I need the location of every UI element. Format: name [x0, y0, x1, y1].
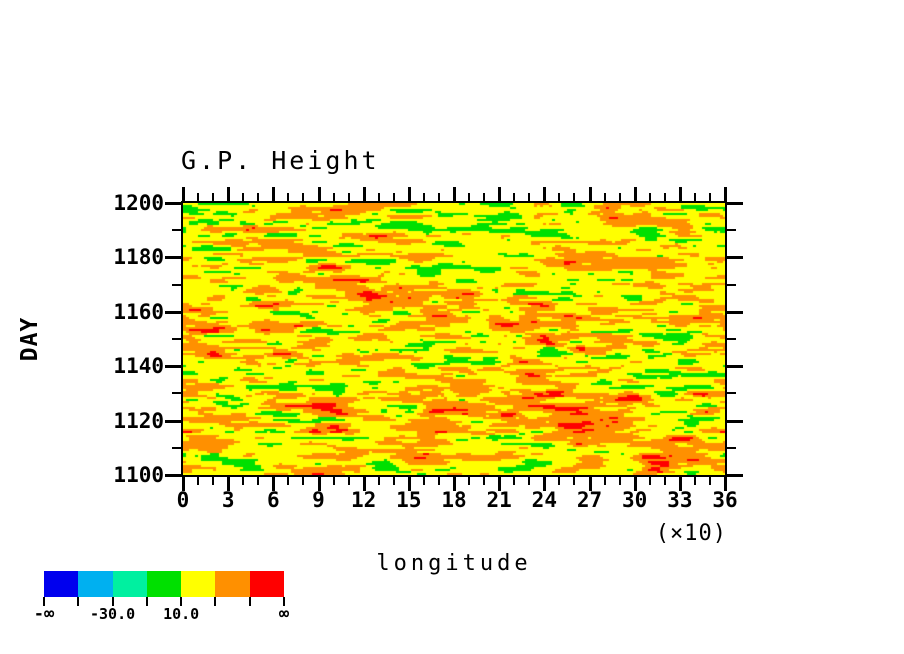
- x-minor-tick: [573, 193, 575, 201]
- x-minor-tick: [468, 477, 470, 485]
- y-major-tick: [727, 420, 743, 423]
- y-tick-label: 1200: [72, 191, 164, 215]
- y-tick-label: 1100: [72, 463, 164, 487]
- x-major-tick: [408, 187, 411, 201]
- x-minor-tick: [604, 477, 606, 485]
- y-major-tick: [727, 311, 743, 314]
- x-minor-tick: [197, 193, 199, 201]
- x-minor-tick: [649, 477, 651, 485]
- x-minor-tick: [393, 193, 395, 201]
- x-minor-tick: [333, 193, 335, 201]
- y-major-tick: [165, 202, 181, 205]
- x-minor-tick: [423, 193, 425, 201]
- x-minor-tick: [212, 193, 214, 201]
- x-major-tick: [498, 187, 501, 201]
- x-minor-tick: [242, 477, 244, 485]
- x-minor-tick: [664, 477, 666, 485]
- x-minor-tick: [378, 477, 380, 485]
- y-minor-tick: [172, 392, 181, 394]
- x-minor-tick: [619, 193, 621, 201]
- colorbar: [44, 571, 284, 597]
- x-minor-tick: [333, 477, 335, 485]
- x-minor-tick: [483, 193, 485, 201]
- x-tick-label: 27: [577, 488, 602, 512]
- y-minor-tick: [172, 338, 181, 340]
- plot-area: [181, 201, 727, 477]
- colorbar-segment: [181, 571, 215, 597]
- x-tick-label: 3: [222, 488, 235, 512]
- x-minor-tick: [348, 193, 350, 201]
- x-major-tick: [318, 187, 321, 201]
- x-major-tick: [363, 187, 366, 201]
- y-major-tick: [165, 365, 181, 368]
- y-major-tick: [165, 256, 181, 259]
- x-minor-tick: [649, 193, 651, 201]
- colorbar-segment: [78, 571, 112, 597]
- x-minor-tick: [438, 477, 440, 485]
- x-major-tick: [679, 187, 682, 201]
- x-major-tick: [634, 187, 637, 201]
- colorbar-segment: [215, 571, 249, 597]
- x-tick-label: 12: [351, 488, 376, 512]
- colorbar-tick: [77, 597, 79, 606]
- y-minor-tick: [727, 229, 736, 231]
- x-minor-tick: [378, 193, 380, 201]
- x-minor-tick: [287, 477, 289, 485]
- y-minor-tick: [172, 447, 181, 449]
- x-minor-tick: [573, 477, 575, 485]
- x-tick-label: 33: [667, 488, 692, 512]
- y-minor-tick: [727, 338, 736, 340]
- x-minor-tick: [528, 477, 530, 485]
- x-minor-tick: [287, 193, 289, 201]
- x-minor-tick: [528, 193, 530, 201]
- colorbar-label: -∞: [34, 604, 54, 624]
- x-minor-tick: [619, 477, 621, 485]
- colorbar-label: -30.0: [90, 605, 135, 623]
- y-major-tick: [165, 311, 181, 314]
- x-major-tick: [589, 187, 592, 201]
- colorbar-tick: [249, 597, 251, 606]
- x-minor-tick: [513, 477, 515, 485]
- colorbar-tick: [146, 597, 148, 606]
- x-minor-tick: [558, 477, 560, 485]
- y-major-tick: [727, 202, 743, 205]
- y-major-tick: [165, 420, 181, 423]
- x-minor-tick: [212, 477, 214, 485]
- x-minor-tick: [694, 193, 696, 201]
- x-minor-tick: [257, 193, 259, 201]
- colorbar-label: ∞: [279, 604, 289, 624]
- x-minor-tick: [302, 477, 304, 485]
- y-axis-title: DAY: [17, 317, 43, 362]
- x-tick-label: 18: [441, 488, 466, 512]
- colorbar-segment: [44, 571, 78, 597]
- y-major-tick: [727, 365, 743, 368]
- x-tick-label: 0: [177, 488, 190, 512]
- x-minor-tick: [664, 193, 666, 201]
- y-minor-tick: [727, 284, 736, 286]
- colorbar-label: 10.0: [163, 605, 199, 623]
- x-major-tick: [453, 187, 456, 201]
- x-major-tick: [543, 187, 546, 201]
- colorbar-segment: [250, 571, 284, 597]
- x-tick-label: 15: [396, 488, 421, 512]
- y-tick-label: 1120: [72, 409, 164, 433]
- x-tick-label: 36: [712, 488, 737, 512]
- y-minor-tick: [172, 229, 181, 231]
- x-major-tick: [182, 187, 185, 201]
- y-tick-label: 1160: [72, 300, 164, 324]
- colorbar-segment: [113, 571, 147, 597]
- x-axis-title: longitude: [376, 551, 531, 576]
- y-minor-tick: [727, 447, 736, 449]
- x-major-tick: [724, 187, 727, 201]
- x-tick-label: 6: [267, 488, 280, 512]
- y-major-tick: [727, 474, 743, 477]
- y-major-tick: [727, 256, 743, 259]
- x-tick-label: 21: [487, 488, 512, 512]
- x-minor-tick: [483, 477, 485, 485]
- heatmap-field: [183, 203, 725, 475]
- figure-canvas: G.P. Height 0369121518212427303336 11001…: [0, 0, 904, 654]
- x-axis-multiplier: (×10): [656, 521, 727, 546]
- x-minor-tick: [709, 193, 711, 201]
- y-major-tick: [165, 474, 181, 477]
- x-minor-tick: [604, 193, 606, 201]
- x-minor-tick: [257, 477, 259, 485]
- colorbar-segment: [147, 571, 181, 597]
- x-minor-tick: [709, 477, 711, 485]
- y-tick-label: 1180: [72, 245, 164, 269]
- x-minor-tick: [558, 193, 560, 201]
- colorbar-tick: [214, 597, 216, 606]
- x-minor-tick: [513, 193, 515, 201]
- x-tick-label: 9: [312, 488, 325, 512]
- x-minor-tick: [242, 193, 244, 201]
- x-major-tick: [227, 187, 230, 201]
- x-major-tick: [272, 187, 275, 201]
- x-minor-tick: [348, 477, 350, 485]
- x-minor-tick: [197, 477, 199, 485]
- y-minor-tick: [172, 284, 181, 286]
- x-minor-tick: [302, 193, 304, 201]
- x-minor-tick: [393, 477, 395, 485]
- y-tick-label: 1140: [72, 354, 164, 378]
- x-minor-tick: [438, 193, 440, 201]
- x-minor-tick: [468, 193, 470, 201]
- x-minor-tick: [423, 477, 425, 485]
- x-tick-label: 24: [532, 488, 557, 512]
- x-minor-tick: [694, 477, 696, 485]
- x-tick-label: 30: [622, 488, 647, 512]
- y-minor-tick: [727, 392, 736, 394]
- page-title: G.P. Height: [181, 146, 380, 175]
